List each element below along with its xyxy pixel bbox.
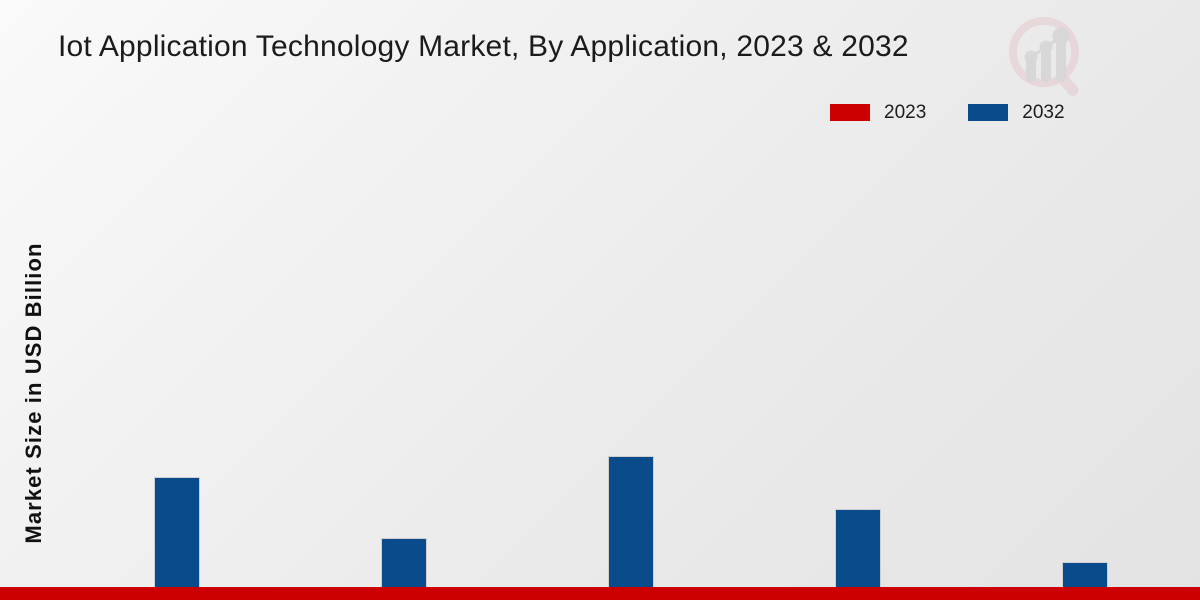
legend-item-2032[interactable]: 2032	[968, 103, 1064, 122]
bar-pair	[1016, 150, 1108, 600]
bar-pair	[789, 150, 881, 600]
chart-canvas: Iot Application Technology Market, By Ap…	[0, 0, 1200, 600]
bar-2032-industrial-iot[interactable]	[608, 456, 654, 600]
legend-swatch-2023	[830, 104, 870, 121]
legend-label-2023: 2023	[884, 103, 926, 122]
legend-label-2032: 2032	[1022, 103, 1064, 122]
bar-pair	[562, 150, 654, 600]
chart-title: Iot Application Technology Market, By Ap…	[58, 30, 909, 64]
legend-swatch-2032	[968, 104, 1008, 121]
plot-area: 45.0Smart HomeWearableTechnologyIndustri…	[60, 150, 1185, 512]
bar-2032-smart-home[interactable]	[154, 477, 200, 600]
y-axis-title: Market Size in USD Billion	[21, 213, 47, 573]
chart-legend: 2023 2032	[830, 103, 1065, 122]
bar-pair	[335, 150, 427, 600]
magnifier-chart-logo-icon	[1000, 12, 1092, 104]
legend-item-2023[interactable]: 2023	[830, 103, 926, 122]
footer-accent-bar	[0, 587, 1200, 600]
bar-pair: 45.0	[108, 150, 200, 600]
